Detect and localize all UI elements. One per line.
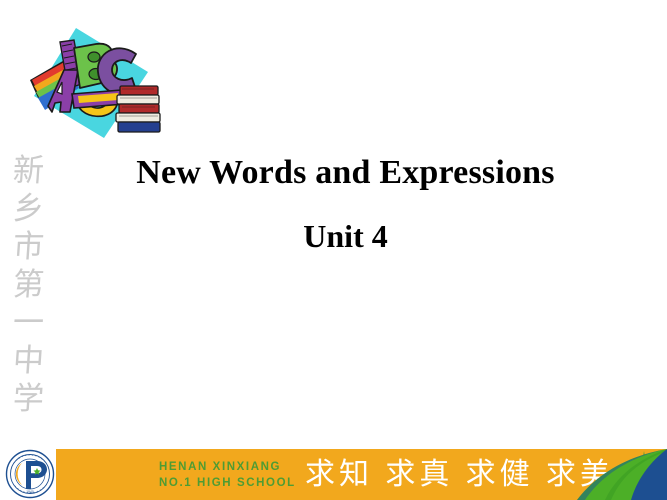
- footer-school-name-english: HENAN XINXIANG NO.1 HIGH SCHOOL: [159, 459, 296, 491]
- watermark-char: 一: [11, 304, 45, 343]
- footer-school-name-line1: HENAN XINXIANG: [159, 459, 296, 475]
- watermark-char: 第: [11, 266, 45, 305]
- school-emblem-seal: 1940: [4, 449, 56, 499]
- watermark-char: 学: [11, 380, 45, 419]
- abc-letters-books-clipart: [24, 20, 164, 148]
- slide-subtitle: Unit 4: [0, 218, 667, 255]
- watermark-char: 中: [11, 342, 45, 381]
- footer-orange-bar: HENAN XINXIANG NO.1 HIGH SCHOOL 求知 求真 求健…: [56, 449, 667, 500]
- footer-banner: HENAN XINXIANG NO.1 HIGH SCHOOL 求知 求真 求健…: [0, 449, 667, 500]
- green-swoosh-graphic: [547, 449, 667, 500]
- slide-title: New Words and Expressions: [0, 154, 667, 192]
- slide: 新 乡 市 第 一 中 学 New Words and Expressions …: [0, 0, 667, 500]
- footer-school-name-line2: NO.1 HIGH SCHOOL: [159, 475, 296, 491]
- svg-text:1940: 1940: [26, 490, 34, 494]
